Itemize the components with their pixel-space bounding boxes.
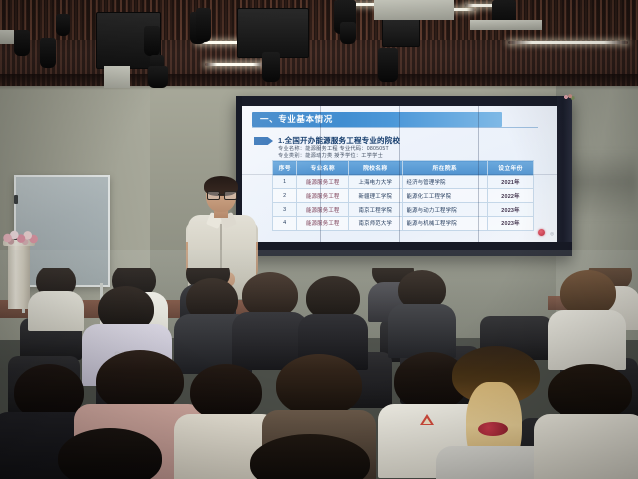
- ceiling-panel: [374, 0, 454, 20]
- slide-meta-line-1: 专业名称：能源服务工程 专业代码：080505T: [278, 145, 389, 152]
- cell-department: 能源与动力工程学院: [402, 203, 487, 217]
- presentation-slide: 一、专业基本情况 1.全国开办能源服务工程专业的院校 专业名称：能源服务工程 专…: [242, 106, 557, 242]
- hair-scrunchie: [478, 422, 508, 436]
- table-row: 4 能源服务工程 南京师范大学 能源与机械工程学院 2023年: [273, 216, 534, 230]
- cell-department: 能源与机械工程学院: [402, 216, 487, 230]
- glasses-icon: [207, 191, 235, 198]
- video-wall-display[interactable]: 一、专业基本情况 1.全国开办能源服务工程专业的院校 专业名称：能源服务工程 专…: [236, 96, 572, 256]
- display-bezel-right: [557, 96, 572, 256]
- stage-light: [14, 30, 30, 56]
- audience-member: [186, 278, 238, 360]
- slide-logo-icon: [538, 229, 545, 236]
- stage-light: [56, 14, 70, 36]
- cell-index: 3: [273, 203, 297, 217]
- audience-member: [398, 270, 446, 346]
- display-bezel-bottom: [236, 242, 572, 256]
- cell-school: 上海电力大学: [349, 175, 402, 189]
- torso: [548, 310, 626, 370]
- slide-meta-line-2: 专业类别：能源动力类 授予学位：工学学士: [278, 152, 383, 159]
- audience-member: [36, 268, 76, 324]
- audience-area: SU: [0, 268, 638, 479]
- head: [276, 354, 362, 416]
- audience-member: [58, 428, 162, 479]
- cell-index: 2: [273, 189, 297, 203]
- cell-department: 经济与管理学院: [402, 175, 487, 189]
- torso: [534, 414, 638, 479]
- led-strip-light: [205, 63, 265, 66]
- ceiling-edge: [0, 74, 638, 90]
- ceiling-panel: [0, 30, 14, 44]
- cell-index: 4: [273, 216, 297, 230]
- stage-light: [262, 52, 280, 82]
- ceiling-panel: [104, 66, 130, 88]
- head: [548, 364, 632, 420]
- table-row: 2 能源服务工程 新疆理工学院 能源化工工程学院 2022年: [273, 189, 534, 203]
- lecture-hall-photo: 一、专业基本情况 1.全国开办能源服务工程专业的院校 专业名称：能源服务工程 专…: [0, 0, 638, 479]
- ceiling-speaker-box: [237, 8, 309, 58]
- head: [96, 350, 184, 412]
- stage-light: [196, 8, 211, 42]
- head: [250, 434, 370, 479]
- cell-year: 2021年: [487, 175, 533, 189]
- decor-flower-icon: [562, 93, 575, 101]
- cell-year: 2023年: [487, 203, 533, 217]
- cell-department: 能源化工工程学院: [402, 189, 487, 203]
- cell-year: 2022年: [487, 189, 533, 203]
- cell-school: 新疆理工学院: [349, 189, 402, 203]
- col-header-department: 所在院系: [402, 161, 487, 176]
- stage-light: [378, 48, 398, 82]
- stage-light: [40, 38, 56, 68]
- cell-major: 能源服务工程: [297, 189, 349, 203]
- audience-member: [548, 364, 632, 479]
- table-row: 1 能源服务工程 上海电力大学 经济与管理学院 2021年: [273, 175, 534, 189]
- slide-logo-text: ◎: [550, 231, 554, 237]
- flower-arrangement: [0, 227, 42, 247]
- cell-major: 能源服务工程: [297, 216, 349, 230]
- stage-light: [148, 66, 168, 88]
- cell-year: 2023年: [487, 216, 533, 230]
- slide-title: 一、专业基本情况: [260, 113, 333, 125]
- whiteboard-clip-icon: [14, 195, 18, 204]
- slide-title-band: 一、专业基本情况: [252, 112, 502, 127]
- stage-light: [340, 22, 356, 44]
- table-row: 3 能源服务工程 南京工程学院 能源与动力工程学院 2023年: [273, 203, 534, 217]
- col-header-year: 设立年份: [487, 161, 533, 176]
- col-header-major: 专业名称: [297, 161, 349, 176]
- cell-major: 能源服务工程: [297, 203, 349, 217]
- table-header-row: 序号 专业名称 院校名称 所在院系 设立年份: [273, 161, 534, 176]
- title-underline: [252, 127, 538, 128]
- cell-school: 南京工程学院: [349, 203, 402, 217]
- bullet-arrow-icon: [254, 137, 273, 145]
- audience-member: [452, 346, 540, 478]
- col-header-school: 院校名称: [349, 161, 402, 176]
- ceiling-panel: [470, 20, 542, 30]
- torso: [28, 291, 84, 331]
- col-header-index: 序号: [273, 161, 297, 176]
- cell-school: 南京师范大学: [349, 216, 402, 230]
- cell-index: 1: [273, 175, 297, 189]
- audience-member: [306, 276, 360, 356]
- led-strip-light: [508, 41, 628, 44]
- head: [190, 364, 262, 420]
- audience-member: [250, 434, 370, 479]
- audience-member: [242, 272, 298, 354]
- audience-member: [560, 270, 616, 352]
- torso: [388, 304, 456, 358]
- head: [58, 428, 162, 479]
- panel-seam: [242, 174, 557, 175]
- shirt-triangle-logo-icon: [420, 414, 434, 425]
- programs-table: 序号 专业名称 院校名称 所在院系 设立年份 1 能源服务工程 上海电力大学 经…: [272, 160, 534, 231]
- stage-light: [144, 26, 160, 56]
- display-bezel-top: [236, 96, 572, 106]
- cell-major: 能源服务工程: [297, 175, 349, 189]
